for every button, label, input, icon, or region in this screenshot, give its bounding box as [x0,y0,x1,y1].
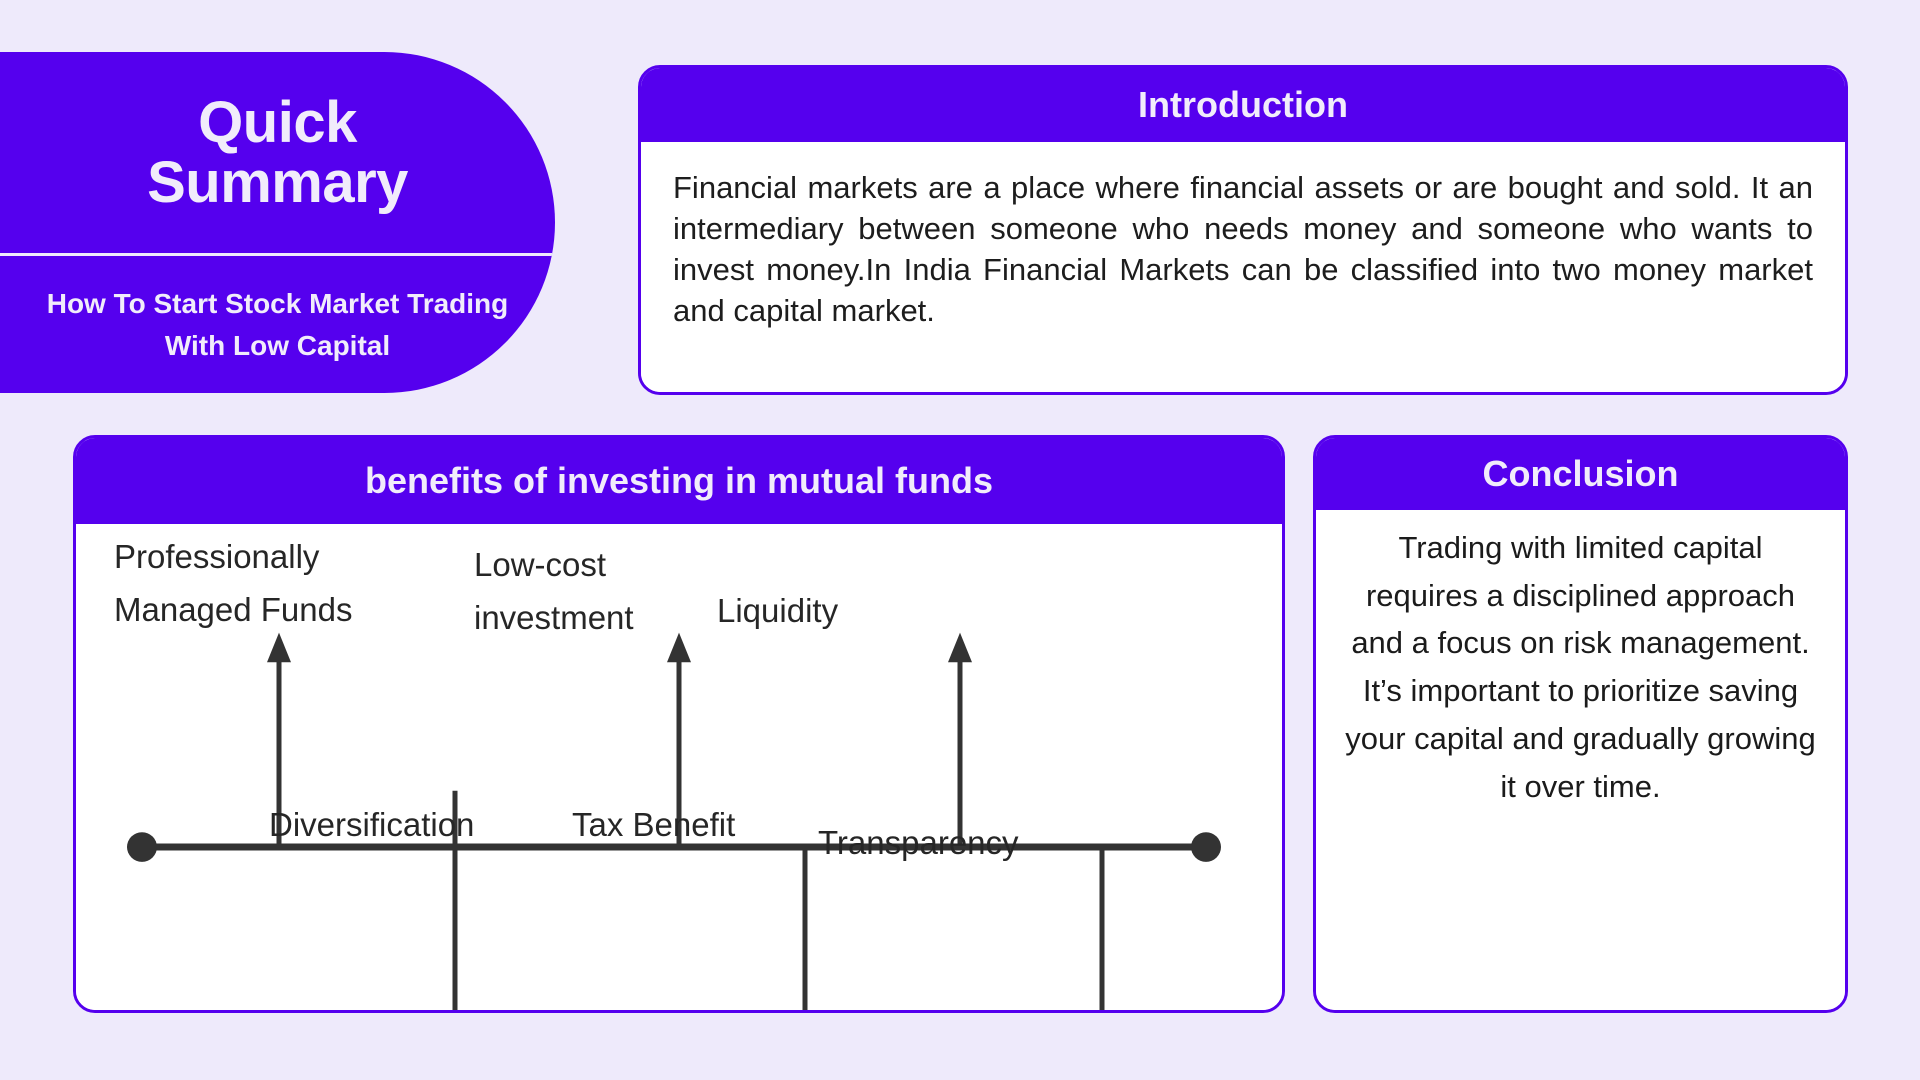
benefit-label-tax-benefit: Tax Benefit [572,798,812,851]
benefits-heading: benefits of investing in mutual funds [76,438,1282,524]
benefits-body: Professionally Managed Funds Low-cost in… [76,524,1282,1010]
timeline-start-dot [127,832,157,862]
timeline-connector-down-3 [1090,850,1114,1010]
benefit-label-professionally-managed-funds: Professionally Managed Funds [114,530,414,637]
page-title: Quick Summary [98,93,458,211]
introduction-heading: Introduction [641,68,1845,142]
benefit-label-transparency: Transparency [818,816,1078,869]
benefit-label-low-cost-investment: Low-cost investment [474,538,704,645]
benefits-card: benefits of investing in mutual funds [73,435,1285,1013]
timeline-connector-up-3 [948,633,972,847]
conclusion-paragraph: Trading with limited capital requires a … [1340,524,1821,810]
introduction-body: Financial markets are a place where fina… [641,142,1845,392]
benefit-label-liquidity: Liquidity [717,584,917,637]
introduction-card: Introduction Financial markets are a pla… [638,65,1848,395]
quick-summary-subtitle-area: How To Start Stock Market Trading With L… [0,256,555,393]
quick-summary-title-area: Quick Summary [0,52,555,253]
timeline-connector-down-2 [793,850,817,1010]
page-subtitle: How To Start Stock Market Trading With L… [43,283,513,367]
conclusion-card: Conclusion Trading with limited capital … [1313,435,1848,1013]
introduction-paragraph: Financial markets are a place where fina… [673,168,1813,332]
quick-summary-banner: Quick Summary How To Start Stock Market … [0,52,555,393]
conclusion-body: Trading with limited capital requires a … [1316,510,1845,1010]
conclusion-heading: Conclusion [1316,438,1845,510]
timeline-end-dot [1191,832,1221,862]
benefit-label-diversification: Diversification [269,798,549,851]
